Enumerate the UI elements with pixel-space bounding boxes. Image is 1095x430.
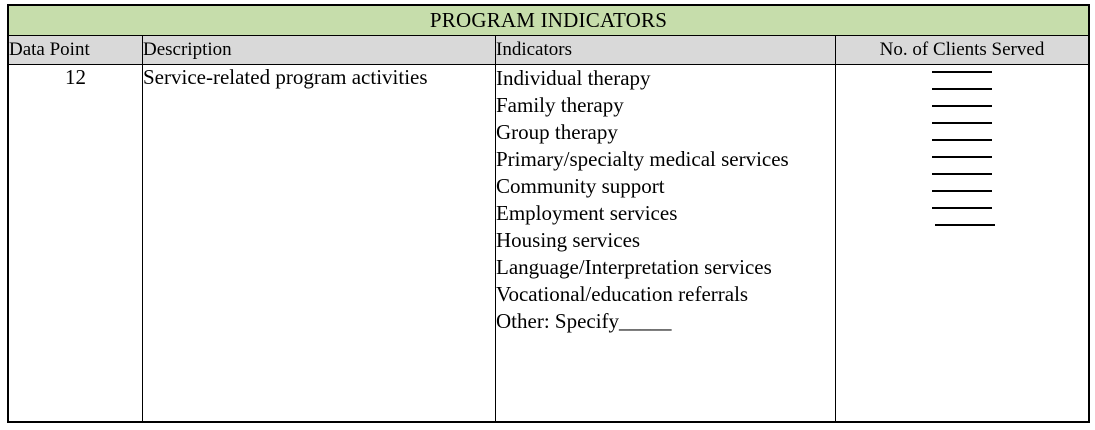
blank-line[interactable]: [932, 190, 992, 192]
column-header-indicators: Indicators: [496, 36, 836, 65]
blank-line[interactable]: [932, 173, 992, 175]
indicator-item: Primary/specialty medical services: [496, 146, 835, 173]
cell-clients-served: [836, 65, 1089, 422]
cell-indicators: Individual therapyFamily therapyGroup th…: [496, 65, 836, 422]
indicator-item: Individual therapy: [496, 65, 835, 92]
indicator-item: Community support: [496, 173, 835, 200]
indicator-item: Housing services: [496, 227, 835, 254]
table-header-row: Data Point Description Indicators No. of…: [9, 36, 1089, 65]
cell-description: Service-related program activities: [143, 65, 496, 422]
blank-line[interactable]: [932, 105, 992, 107]
program-indicators-table: PROGRAM INDICATORS Data Point Descriptio…: [8, 5, 1089, 422]
indicator-item: Language/Interpretation services: [496, 254, 835, 281]
document-sheet: PROGRAM INDICATORS Data Point Descriptio…: [0, 0, 1095, 430]
clients-served-blank-lines: [836, 65, 1088, 226]
indicator-item: Family therapy: [496, 92, 835, 119]
table-title-row: PROGRAM INDICATORS: [9, 6, 1089, 36]
table-title: PROGRAM INDICATORS: [9, 6, 1089, 36]
cell-data-point: 12: [9, 65, 143, 422]
indicator-item: Vocational/education referrals: [496, 281, 835, 308]
blank-line[interactable]: [932, 139, 992, 141]
indicator-item: Group therapy: [496, 119, 835, 146]
blank-line[interactable]: [932, 156, 992, 158]
blank-line[interactable]: [932, 122, 992, 124]
indicator-item: Employment services: [496, 200, 835, 227]
blank-line[interactable]: [932, 207, 992, 209]
indicator-list: Individual therapyFamily therapyGroup th…: [496, 65, 835, 335]
table-row: 12 Service-related program activities In…: [9, 65, 1089, 422]
blank-line[interactable]: [932, 71, 992, 73]
blank-line[interactable]: [932, 88, 992, 90]
indicator-item: Other: Specify_____: [496, 308, 835, 335]
blank-line[interactable]: [935, 224, 995, 226]
column-header-description: Description: [143, 36, 496, 65]
column-header-clients-served: No. of Clients Served: [836, 36, 1089, 65]
column-header-data-point: Data Point: [9, 36, 143, 65]
